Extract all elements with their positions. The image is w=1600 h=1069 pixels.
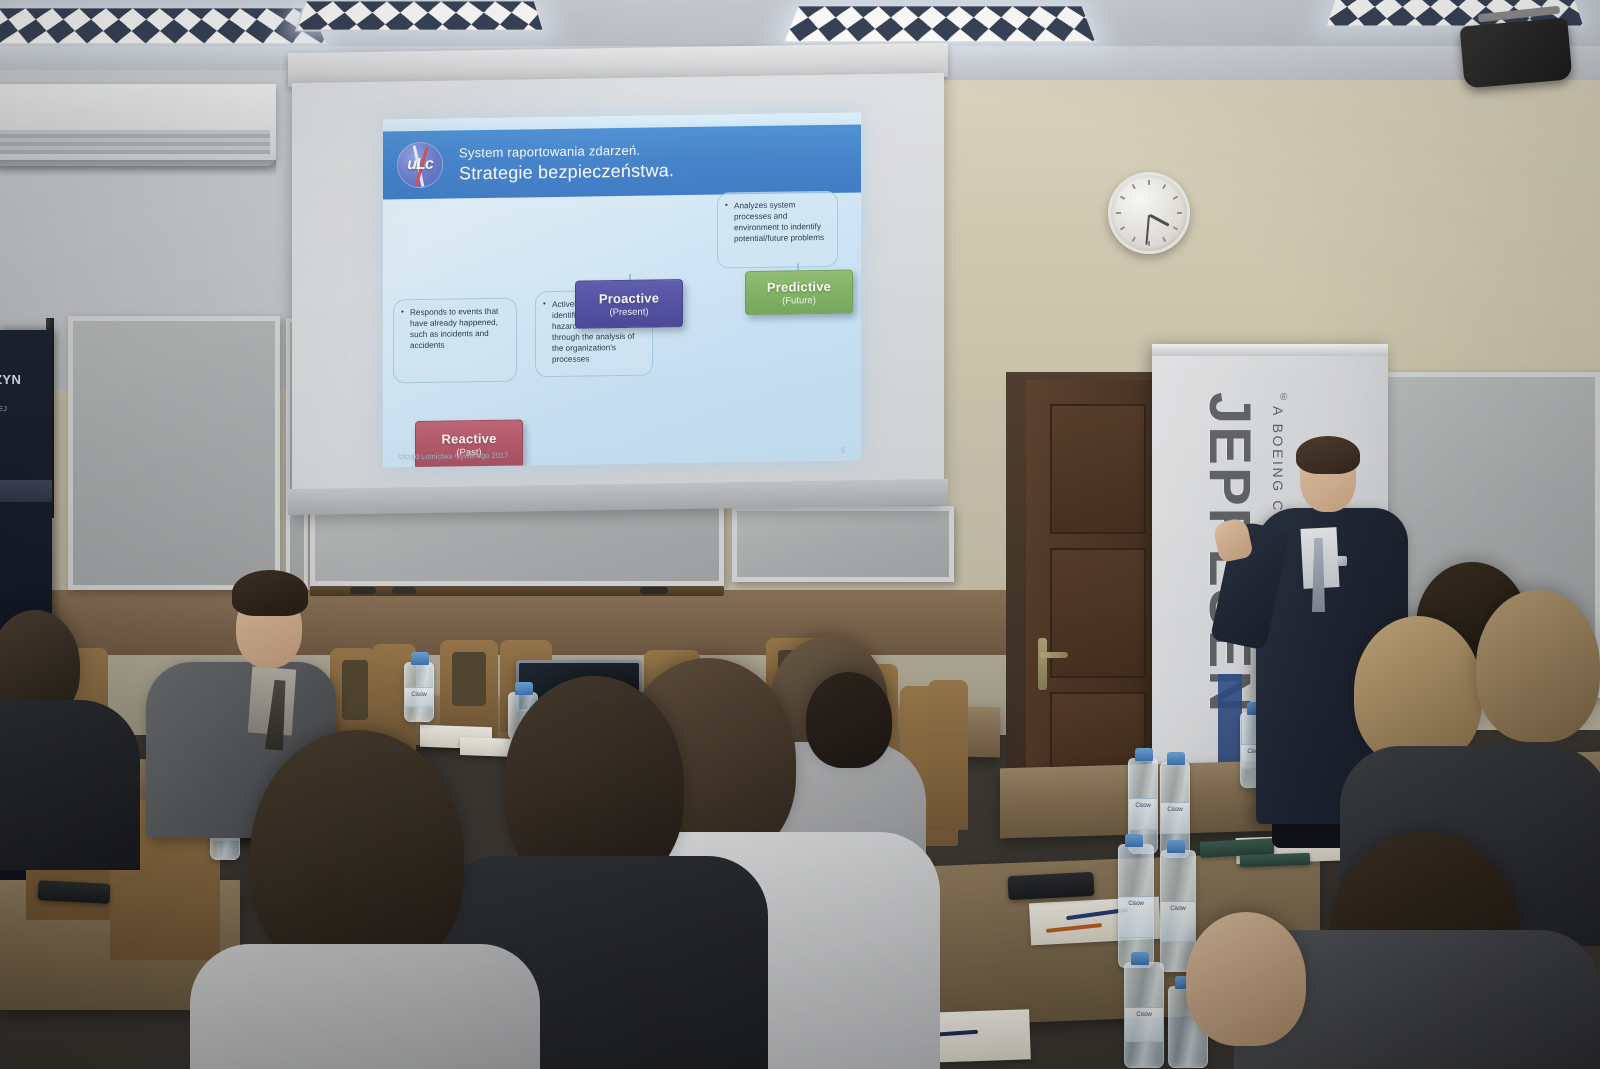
box-subtitle: (Present)	[609, 306, 648, 318]
clock-tick	[1173, 226, 1178, 230]
door-panel	[1050, 548, 1146, 678]
ceiling-light-panel	[782, 5, 1098, 43]
callout-reactive: Responds to events that have already hap…	[393, 298, 517, 384]
clock-tick	[1120, 196, 1125, 200]
whiteboard-marker	[350, 587, 376, 594]
whiteboard-marker	[392, 587, 416, 594]
box-title: Proactive	[599, 290, 659, 306]
air-conditioner	[0, 84, 276, 166]
audience-shoulders	[190, 944, 540, 1069]
bottle-cap	[1131, 952, 1149, 965]
callout-predictive: Analyzes system processes and environmen…	[717, 191, 838, 269]
audience-shoulders	[0, 700, 140, 870]
banner-left-band	[0, 480, 52, 502]
clock-tick	[1116, 212, 1121, 214]
ceiling-speaker	[1460, 17, 1573, 88]
ulc-logo-icon: uLc	[397, 142, 443, 189]
clock-tick	[1173, 196, 1178, 200]
box-title: Reactive	[441, 430, 496, 446]
banner-top-bar	[1152, 344, 1388, 356]
presentation-slide: uLc System raportowania zdarzeń. Strateg…	[383, 112, 861, 467]
air-conditioner-vent	[0, 130, 270, 154]
callout-text: Responds to events that have already hap…	[401, 307, 507, 353]
slide-box-predictive: Predictive (Future)	[745, 270, 853, 316]
door-handle-lever[interactable]	[1040, 652, 1068, 658]
slide-source: Urząd Lotnictwa Cywilnego 2017	[399, 451, 508, 462]
clock-tick	[1177, 212, 1182, 214]
clock-tick	[1132, 237, 1136, 242]
ceiling-light-panel	[295, 0, 545, 31]
slide-eyebrow: System raportowania zdarzeń.	[459, 142, 674, 160]
bottle-label: Cisow	[1119, 896, 1153, 937]
air-conditioner-shadow	[0, 160, 276, 176]
slide-box-proactive: Proactive (Present)	[575, 279, 683, 329]
slide-header: uLc System raportowania zdarzeń. Strateg…	[383, 124, 861, 199]
bottle-label: Cisow	[1161, 802, 1189, 834]
bottle-cap	[411, 652, 429, 665]
door-handle-plate[interactable]	[1038, 638, 1047, 690]
clock-tick	[1148, 180, 1150, 185]
chair-slat	[342, 660, 368, 720]
audience-head	[250, 730, 464, 980]
slide-page-number: 5	[841, 446, 845, 455]
slide-title: Strategie bezpieczeństwa.	[459, 160, 674, 184]
room-scene: uLc System raportowania zdarzeń. Strateg…	[0, 0, 1600, 1069]
bottle-cap	[1135, 748, 1153, 761]
water-bottle[interactable]: Cisow	[1124, 962, 1164, 1068]
water-bottle[interactable]: Cisow	[1118, 844, 1154, 968]
audience-hand	[1186, 912, 1306, 1046]
door-panel	[1050, 404, 1146, 534]
clock-tick	[1162, 237, 1166, 242]
ulc-logo-text: uLc	[398, 156, 442, 175]
wall-clock	[1108, 172, 1190, 254]
ceiling-light-panel	[0, 7, 329, 45]
bottle-cap	[1125, 834, 1143, 847]
box-title: Predictive	[767, 278, 831, 294]
water-bottle[interactable]: Cisow	[404, 662, 434, 722]
door-panel	[1050, 692, 1146, 768]
presenter-lapel-pin	[1337, 556, 1347, 566]
chair[interactable]	[928, 680, 968, 830]
banner-left-line2: TWA	[0, 388, 56, 403]
clock-tick	[1120, 226, 1125, 230]
box-subtitle: (Future)	[782, 295, 816, 307]
bottle-cap	[515, 682, 533, 695]
audience-head	[1476, 590, 1600, 742]
chair-slat	[452, 652, 486, 706]
slide-header-text: System raportowania zdarzeń. Strategie b…	[459, 142, 674, 184]
callout-text: Analyzes system processes and environmen…	[725, 200, 828, 245]
audience-head	[1354, 616, 1482, 766]
notebook[interactable]	[1240, 853, 1310, 867]
clock-tick	[1132, 184, 1136, 189]
bottle-cap	[1167, 840, 1185, 853]
banner-left-line3: AZOWSKIEJ	[0, 406, 59, 413]
whiteboard-marker	[640, 587, 668, 594]
bottle-label: Cisow	[405, 687, 433, 707]
presenter-hair	[1296, 436, 1360, 474]
banner-left-line1: MASZYN	[0, 372, 56, 387]
bottle-cap	[1167, 752, 1185, 765]
bottle-label: Cisow	[1129, 798, 1157, 830]
registered-trademark-icon: ®	[1280, 392, 1287, 403]
clock-tick	[1148, 241, 1150, 246]
bottle-label: Cisow	[1125, 1007, 1163, 1042]
clock-tick	[1162, 184, 1166, 189]
whiteboard	[68, 316, 280, 590]
phone[interactable]	[1007, 872, 1094, 900]
attendee-hair	[232, 570, 308, 616]
whiteboard	[732, 506, 954, 582]
phone[interactable]	[38, 880, 111, 904]
bottle-label: Cisow	[1161, 901, 1195, 942]
audience-head	[806, 672, 892, 768]
